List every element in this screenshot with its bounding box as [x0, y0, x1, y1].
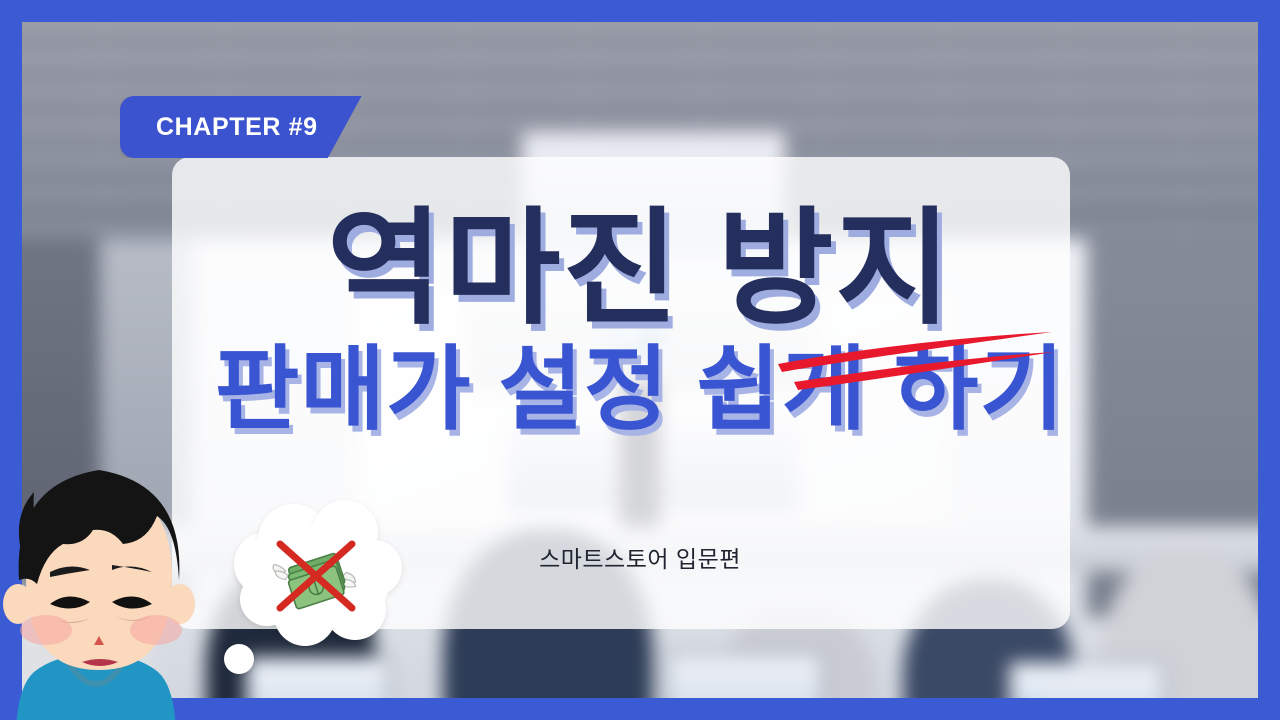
laptop	[1008, 661, 1166, 698]
money-with-wings-crossed-icon	[272, 538, 360, 616]
water-bottle	[1022, 695, 1036, 698]
worried-boy-character	[0, 440, 224, 720]
video-thumbnail: CHAPTER #9 역마진 방지 판매가 설정 쉽게 하기 스마트스토어 입문…	[0, 0, 1280, 720]
chapter-badge: CHAPTER #9	[120, 96, 362, 158]
laptop	[666, 652, 824, 698]
thought-bubble	[228, 498, 404, 658]
bubble-tail-dot	[224, 644, 254, 674]
laptop	[245, 656, 390, 698]
chapter-badge-label: CHAPTER #9	[156, 113, 318, 142]
